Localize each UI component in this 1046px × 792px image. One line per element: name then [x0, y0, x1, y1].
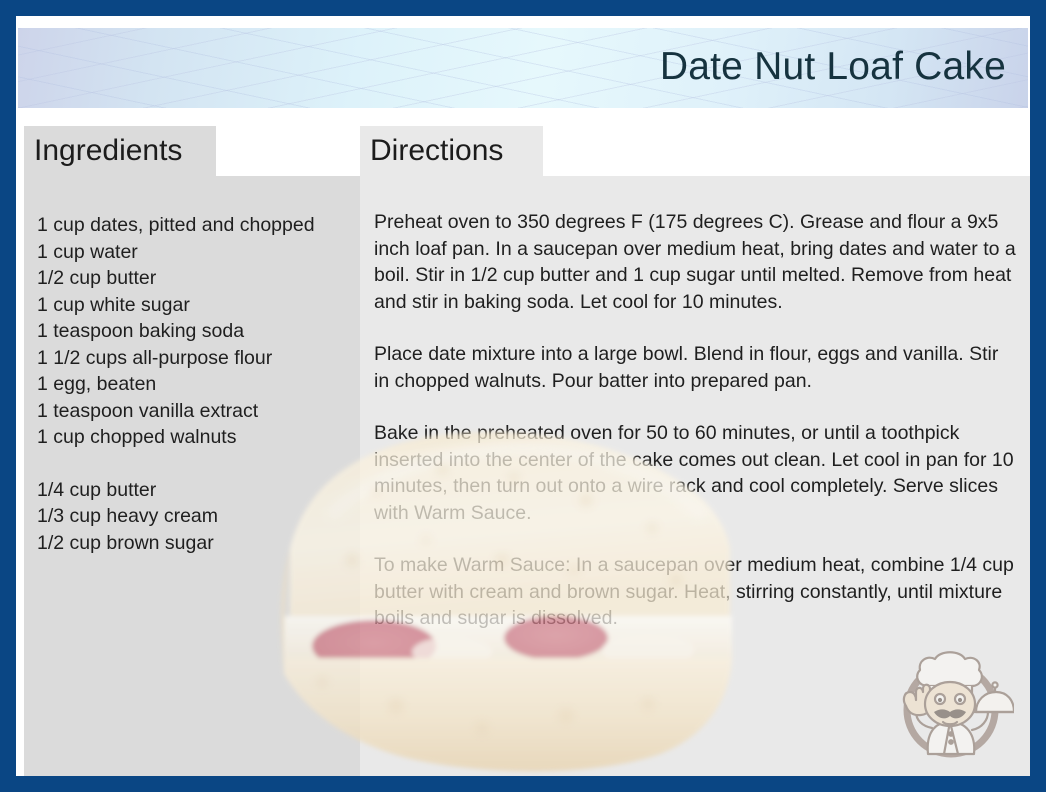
- recipe-card: Date Nut Loaf Cake Ingredients 1 cup dat…: [0, 0, 1046, 792]
- list-item: 1/2 cup brown sugar: [37, 530, 352, 557]
- list-item: 1 egg, beaten: [37, 371, 352, 398]
- direction-paragraph: Place date mixture into a large bowl. Bl…: [374, 341, 1018, 394]
- list-item: 1 cup chopped walnuts: [37, 424, 352, 451]
- ingredients-panel: Ingredients 1 cup dates, pitted and chop…: [24, 126, 360, 776]
- page-title: Date Nut Loaf Cake: [660, 45, 1006, 89]
- list-item: 1 teaspoon vanilla extract: [37, 398, 352, 425]
- ingredients-tab: Ingredients: [24, 126, 216, 176]
- directions-tab: Directions: [360, 126, 543, 176]
- ingredients-heading: Ingredients: [34, 134, 182, 168]
- list-item: 1/2 cup butter: [37, 265, 352, 292]
- directions-body: Preheat oven to 350 degrees F (175 degre…: [360, 176, 1030, 776]
- list-item: 1 1/2 cups all-purpose flour: [37, 345, 352, 372]
- ingredients-body: 1 cup dates, pitted and chopped 1 cup wa…: [24, 176, 360, 776]
- recipe-page: Date Nut Loaf Cake Ingredients 1 cup dat…: [16, 16, 1030, 776]
- directions-text: Preheat oven to 350 degrees F (175 degre…: [374, 209, 1018, 658]
- list-item: 1/3 cup heavy cream: [37, 503, 352, 530]
- list-separator: [37, 451, 352, 477]
- ingredients-list: 1 cup dates, pitted and chopped 1 cup wa…: [37, 212, 352, 556]
- header-banner: Date Nut Loaf Cake: [18, 28, 1028, 108]
- list-item: 1 cup water: [37, 239, 352, 266]
- direction-paragraph: Preheat oven to 350 degrees F (175 degre…: [374, 209, 1018, 315]
- directions-heading: Directions: [370, 134, 503, 168]
- direction-paragraph: Bake in the preheated oven for 50 to 60 …: [374, 420, 1018, 526]
- list-item: 1/4 cup butter: [37, 477, 352, 504]
- list-item: 1 teaspoon baking soda: [37, 318, 352, 345]
- list-item: 1 cup dates, pitted and chopped: [37, 212, 352, 239]
- directions-panel: Directions Preheat oven to 350 degrees F…: [360, 126, 1030, 776]
- list-item: 1 cup white sugar: [37, 292, 352, 319]
- direction-paragraph: To make Warm Sauce: In a saucepan over m…: [374, 552, 1018, 632]
